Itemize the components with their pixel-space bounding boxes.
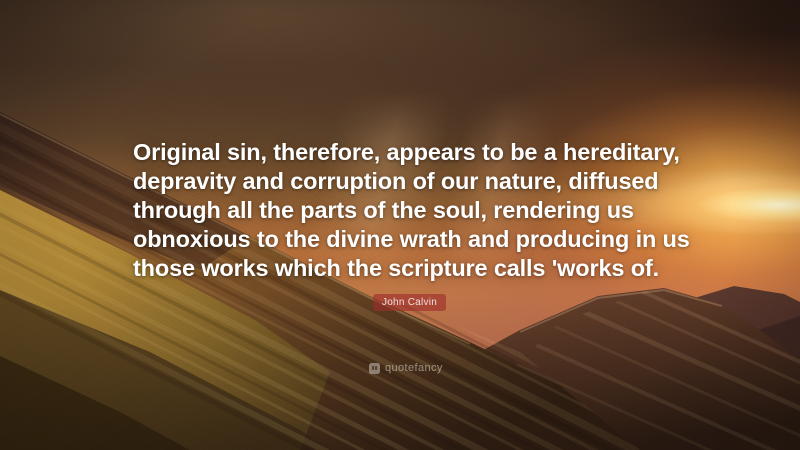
quote-line: Original sin, therefore, appears to be a… (133, 138, 678, 167)
quotefancy-logo-icon (369, 363, 380, 374)
quote-poster: Original sin, therefore, appears to be a… (0, 0, 800, 450)
quote-line: those works which the scripture calls 'w… (133, 254, 678, 283)
author-name: John Calvin (382, 297, 437, 308)
quote-text: Original sin, therefore, appears to be a… (133, 138, 678, 283)
overlay-content: Original sin, therefore, appears to be a… (0, 0, 800, 450)
watermark-label: quotefancy (385, 362, 443, 374)
watermark[interactable]: quotefancy (369, 362, 443, 374)
quote-line: through all the parts of the soul, rende… (133, 196, 678, 225)
quote-line: obnoxious to the divine wrath and produc… (133, 225, 678, 254)
author-badge[interactable]: John Calvin (373, 294, 446, 311)
quote-line: depravity and corruption of our nature, … (133, 167, 678, 196)
